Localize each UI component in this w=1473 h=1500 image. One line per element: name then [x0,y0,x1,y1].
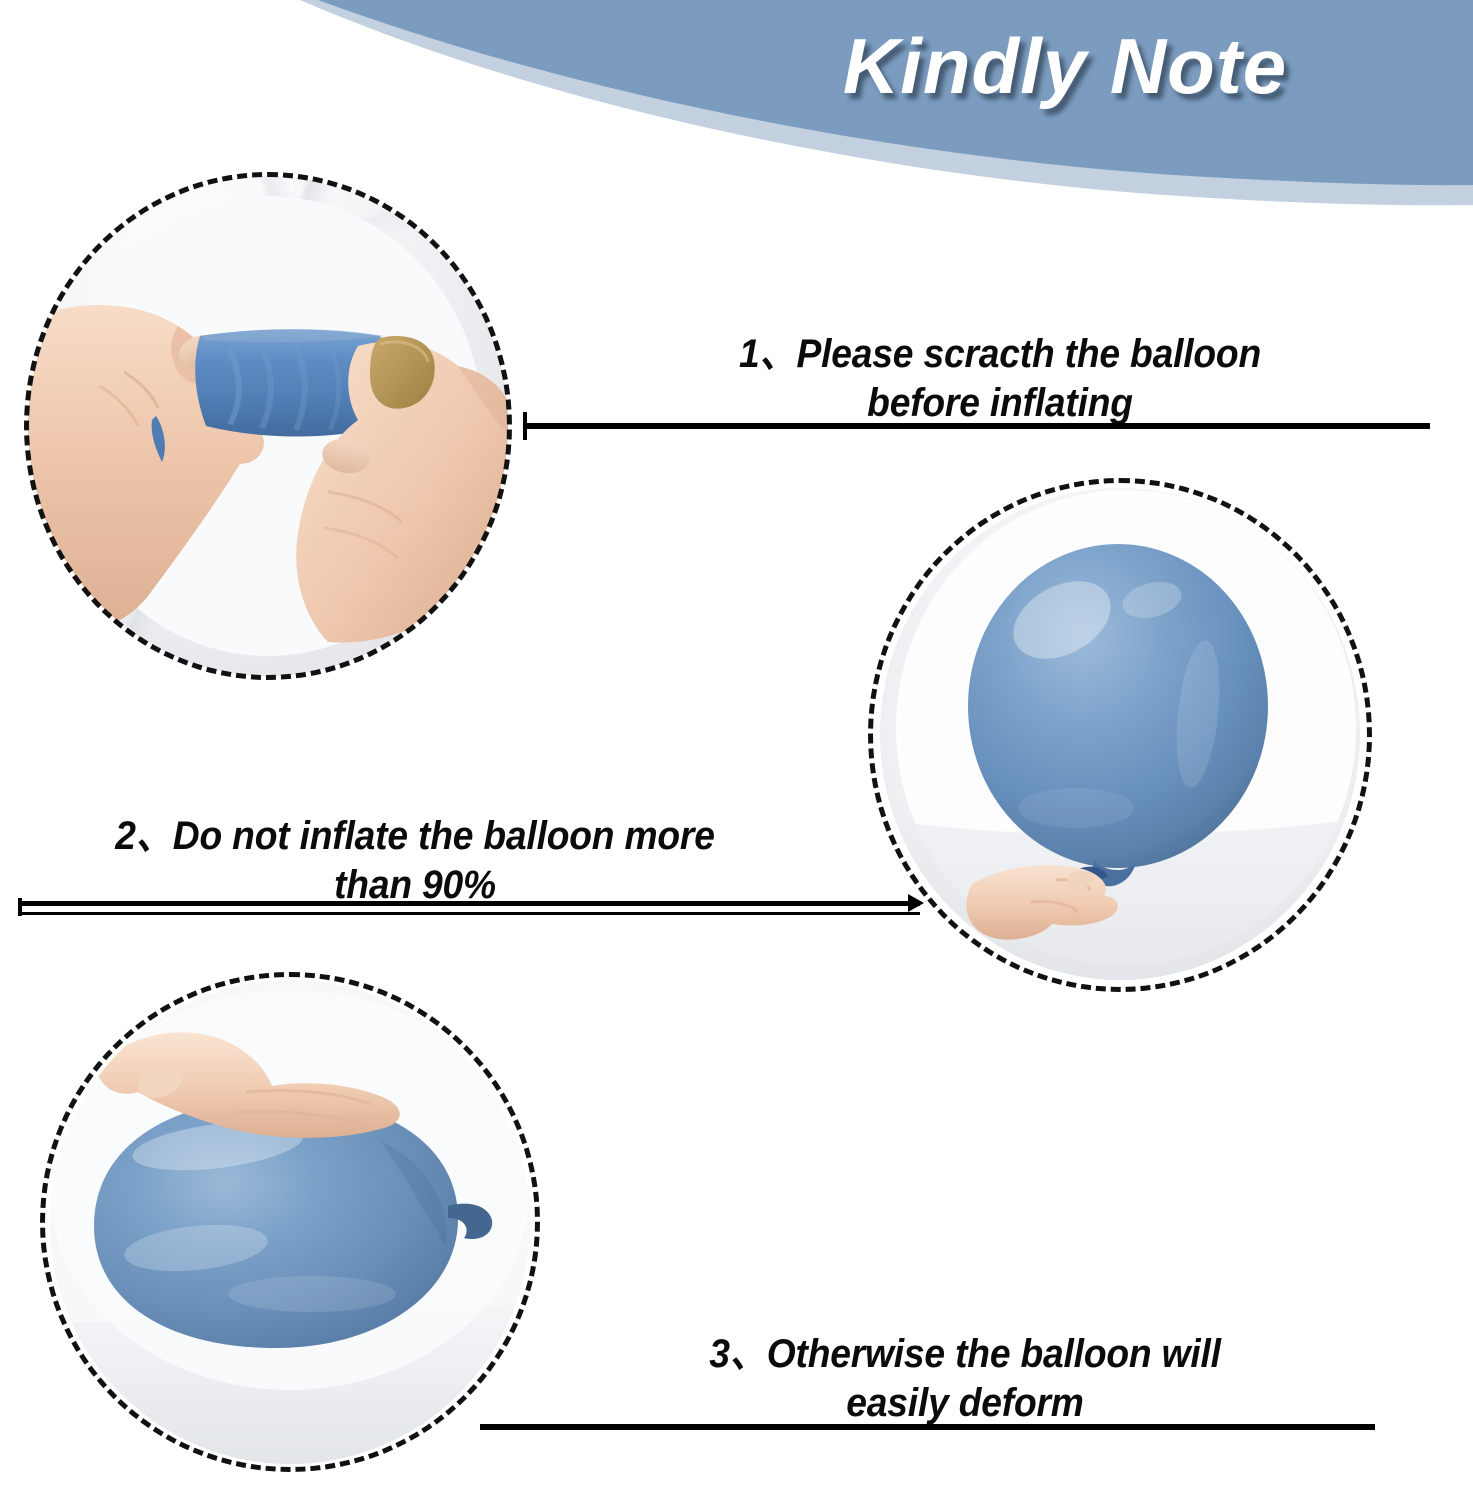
step-3-number: 3、 [709,1332,767,1376]
photo-deformed-balloon [50,980,530,1464]
step-1-line2: before inflating [867,381,1133,425]
rule-1 [525,423,1430,429]
rule-2-lower [20,912,920,915]
step-3-line1: Otherwise the balloon will [767,1332,1221,1376]
step-1-number: 1、 [739,332,797,376]
page-title: Kindly Note [745,26,1385,108]
rule-2-arrowhead [908,894,924,912]
step-1-text: 1、Please scracth the balloon before infl… [628,330,1372,428]
step-2-line1: Do not inflate the balloon more [173,814,715,858]
step-2-text: 2、Do not inflate the balloon more than 9… [48,812,783,910]
step-3-line2: easily deform [846,1381,1083,1425]
rule-2-upper [20,901,920,906]
step-3-text: 3、Otherwise the balloon will easily defo… [598,1330,1333,1428]
kindly-note-infographic: Kindly Note [0,0,1473,1500]
photo-stretch-balloon [28,176,508,676]
rule-3 [480,1424,1375,1430]
photo-inflated-balloon [880,488,1360,980]
step-1-line1: Please scracth the balloon [797,332,1261,376]
step-2-number: 2、 [115,814,173,858]
